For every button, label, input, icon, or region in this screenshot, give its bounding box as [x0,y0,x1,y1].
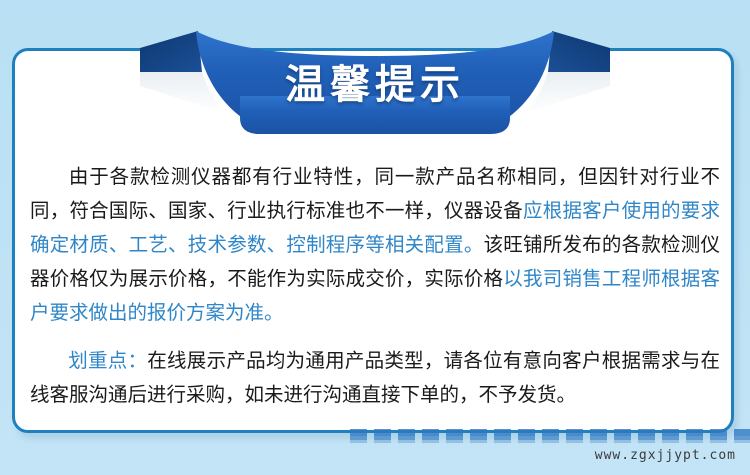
footer-url: www.zgxjjypt.com [595,448,736,463]
notice-body: 由于各款检测仪器都有行业特性，同一款产品名称相同，但因针对行业不同，符合国际、国… [30,160,720,412]
banner-title: 温馨提示 [140,52,610,110]
paragraph-one: 由于各款检测仪器都有行业特性，同一款产品名称相同，但因针对行业不同，符合国际、国… [30,160,720,330]
promo-banner-page: 东莞市特德仪器设备有限公司 由于各款检测仪器都有行业特性，同一款产品名称相同，但… [0,0,750,475]
key-point-label: 划重点： [68,349,147,372]
paragraph-two: 划重点：在线展示产品均为通用产品类型，请各位有意向客户根据需求与在线客服沟通后进… [30,344,720,412]
ribbon-banner: 温馨提示 [140,26,610,148]
